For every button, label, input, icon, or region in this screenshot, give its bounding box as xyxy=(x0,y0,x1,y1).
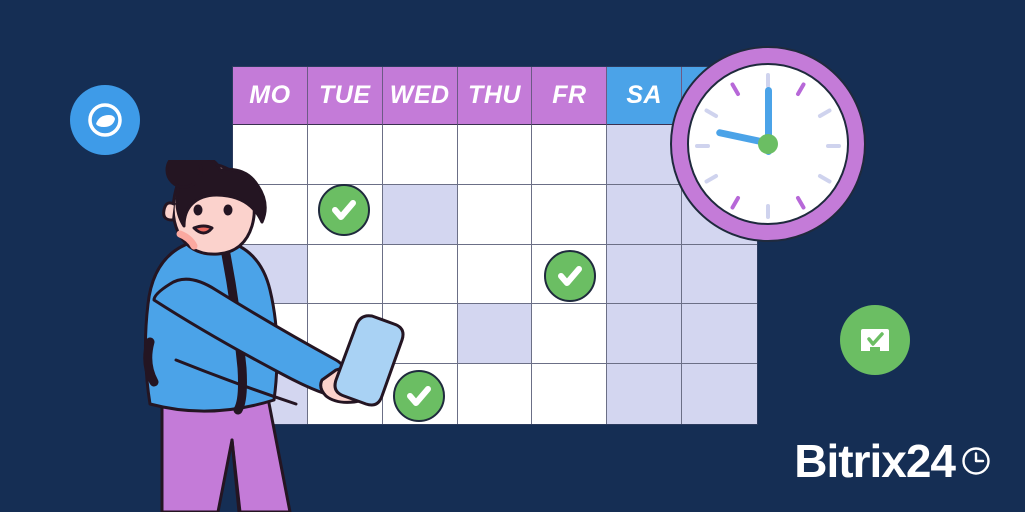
calendar-cell-r4-fr[interactable] xyxy=(532,304,607,364)
clock-tick-2 xyxy=(817,108,832,119)
clock-tick-1 xyxy=(795,82,806,97)
check-icon xyxy=(329,195,359,225)
clock-face xyxy=(687,63,849,225)
check-icon xyxy=(404,381,434,411)
calendar-check-tue[interactable] xyxy=(318,184,370,236)
clock-tick-0 xyxy=(766,73,770,88)
clock-tick-10 xyxy=(704,108,719,119)
clock-tick-5 xyxy=(795,195,806,210)
clock-pivot xyxy=(758,134,778,154)
calendar-header-wed: WED xyxy=(383,67,458,125)
clock-icon xyxy=(961,446,991,476)
clock-tick-9 xyxy=(695,144,710,148)
wall-clock xyxy=(670,46,866,242)
calendar-cell-r3-thu[interactable] xyxy=(458,245,533,305)
calendar-header-tue: TUE xyxy=(308,67,383,125)
leaf-icon xyxy=(85,100,125,140)
calendar-check-fr[interactable] xyxy=(544,250,596,302)
clock-tick-11 xyxy=(730,82,741,97)
calendar-cell-r3-sa[interactable] xyxy=(607,245,682,305)
calendar-cell-r4-su[interactable] xyxy=(682,304,757,364)
calendar-cell-r5-fr[interactable] xyxy=(532,364,607,424)
calendar-cell-r5-thu[interactable] xyxy=(458,364,533,424)
calendar-cell-r4-thu[interactable] xyxy=(458,304,533,364)
calendar-header-mo: MO xyxy=(233,67,308,125)
calendar-cell-r5-sa[interactable] xyxy=(607,364,682,424)
leaf-badge[interactable] xyxy=(70,85,140,155)
clock-tick-8 xyxy=(704,173,719,184)
check-icon xyxy=(555,261,585,291)
calendar-cell-r1-fr[interactable] xyxy=(532,125,607,185)
promo-banner: MOTUEWEDTHUFRSASU xyxy=(0,0,1025,512)
calendar-cell-r3-su[interactable] xyxy=(682,245,757,305)
calendar-cell-r4-sa[interactable] xyxy=(607,304,682,364)
person-illustration xyxy=(140,160,440,512)
task-badge[interactable] xyxy=(840,305,910,375)
calendar-cell-r1-thu[interactable] xyxy=(458,125,533,185)
calendar-header-thu: THU xyxy=(458,67,533,125)
clock-tick-7 xyxy=(730,195,741,210)
calendar-header-fr: FR xyxy=(532,67,607,125)
bitrix24-logo: Bitrix24 xyxy=(794,438,991,484)
calendar-check-wed[interactable] xyxy=(393,370,445,422)
calendar-cell-r2-thu[interactable] xyxy=(458,185,533,245)
task-check-icon xyxy=(855,320,895,360)
calendar-cell-r5-su[interactable] xyxy=(682,364,757,424)
clock-tick-3 xyxy=(826,144,841,148)
clock-tick-6 xyxy=(766,204,770,219)
logo-text: Bitrix24 xyxy=(794,438,955,484)
clock-tick-4 xyxy=(817,173,832,184)
calendar-cell-r2-fr[interactable] xyxy=(532,185,607,245)
